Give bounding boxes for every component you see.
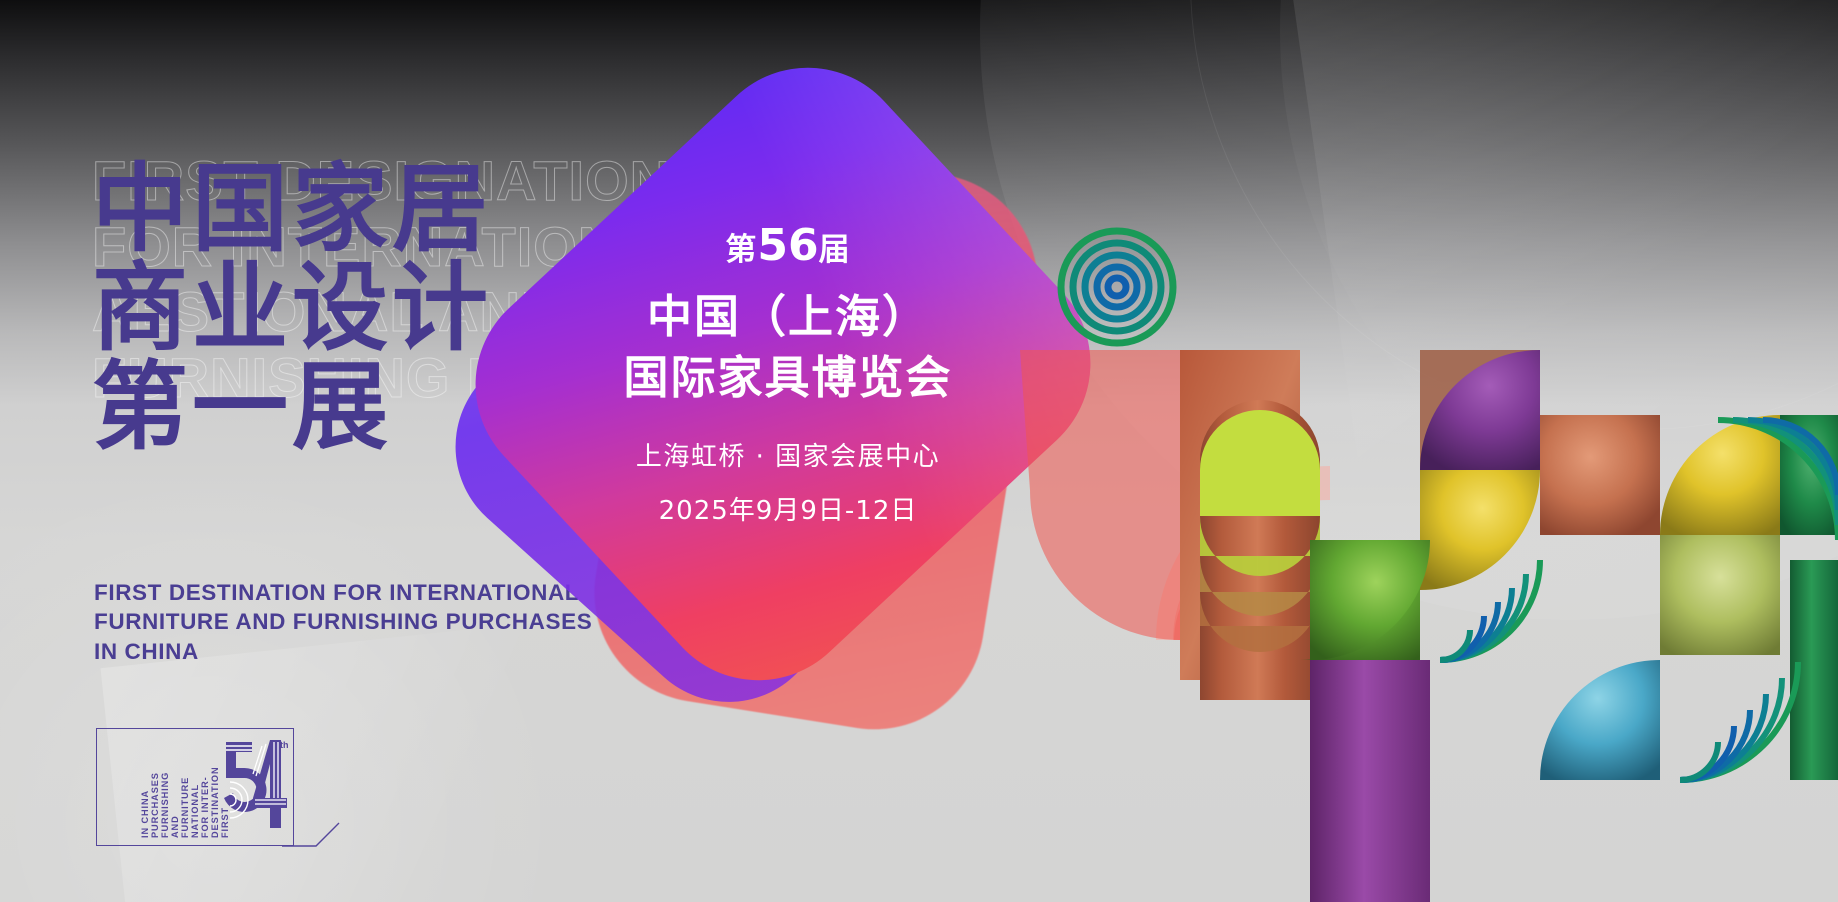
edition-badge: FIRST DESTINATION FOR INTER- NATIONAL FU… bbox=[96, 728, 294, 846]
card-title-line-1: 中国（上海） bbox=[647, 289, 929, 346]
badge-edition-number-icon: th bbox=[222, 736, 288, 836]
badge-tail-icon bbox=[282, 805, 340, 847]
headline-line-3: 第一展 bbox=[92, 358, 492, 457]
badge-col-6: FURNISHING bbox=[160, 734, 170, 838]
badge-edition-suffix: th bbox=[280, 740, 288, 750]
card-edition-ordinal: 第56届 bbox=[725, 220, 850, 271]
event-card: 第56届 中国（上海） 国际家具博览会 上海虹桥 · 国家会展中心 2025年9… bbox=[508, 92, 1068, 752]
page-title: 中国家居 商业设计 第一展 bbox=[92, 160, 492, 457]
ordinal-number: 56 bbox=[757, 220, 818, 271]
badge-col-4: FURNITURE bbox=[180, 734, 190, 838]
badge-col-3: NATIONAL bbox=[190, 734, 200, 838]
card-title-line-2: 国际家具博览会 bbox=[623, 350, 952, 407]
badge-col-8: IN CHINA bbox=[140, 734, 150, 838]
card-venue: 上海虹桥 · 国家会展中心 bbox=[636, 436, 940, 473]
badge-col-7: PURCHASES bbox=[150, 734, 160, 838]
ordinal-suffix: 届 bbox=[819, 232, 851, 268]
badge-col-2: FOR INTER- bbox=[200, 734, 210, 838]
poster-canvas: FIRST DESIGNATION FOR INTERNATIONAL AEST… bbox=[0, 0, 1838, 902]
ordinal-prefix: 第 bbox=[725, 232, 757, 268]
badge-col-5: AND bbox=[170, 734, 180, 838]
card-date: 2025年9月9日-12日 bbox=[659, 490, 918, 527]
badge-col-1: DESTINATION bbox=[210, 734, 220, 838]
headline-line-1: 中国家居 bbox=[92, 160, 492, 259]
card-text-block: 第56届 中国（上海） 国际家具博览会 上海虹桥 · 国家会展中心 2025年9… bbox=[508, 92, 1068, 752]
badge-text-columns: FIRST DESTINATION FOR INTER- NATIONAL FU… bbox=[104, 734, 230, 838]
headline-line-2: 商业设计 bbox=[92, 259, 492, 358]
